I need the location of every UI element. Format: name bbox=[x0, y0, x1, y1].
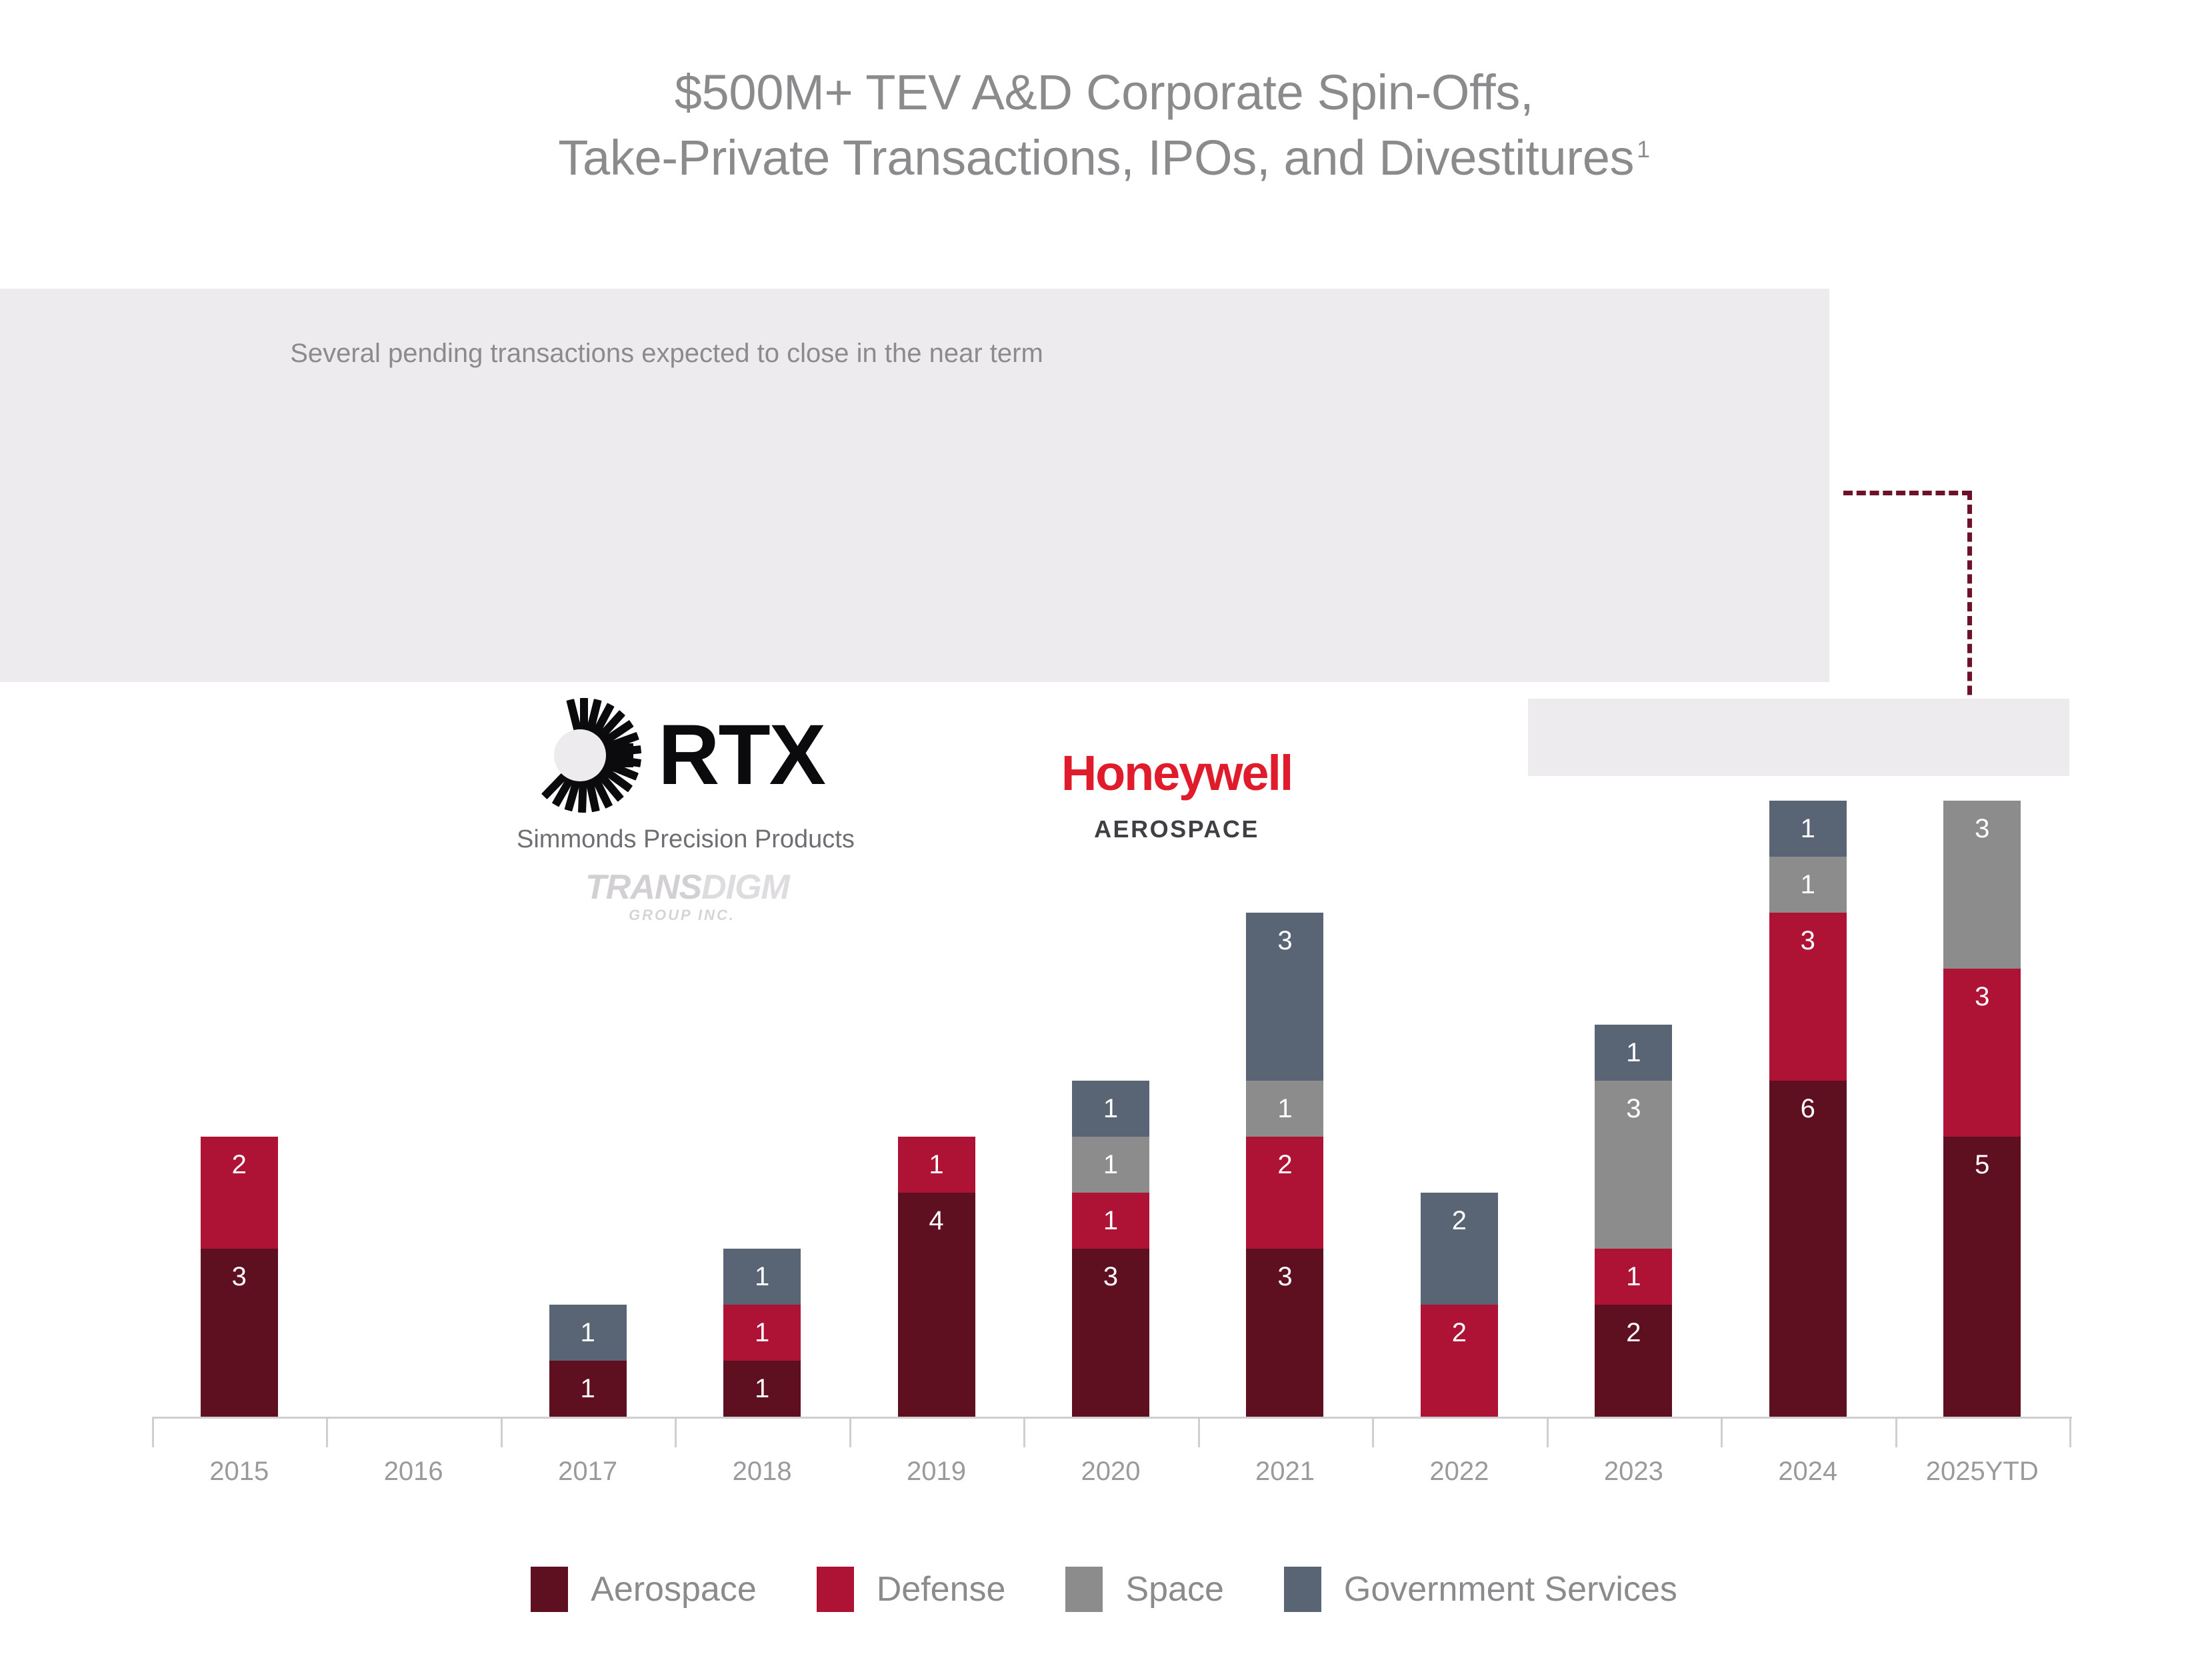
x-axis-tick-2016 bbox=[326, 1417, 500, 1447]
bar-segment-value: 1 bbox=[929, 1151, 943, 1178]
bar-segment-value: 4 bbox=[929, 1207, 943, 1234]
bar-column-2016[interactable] bbox=[326, 720, 500, 1417]
bar-column-2019[interactable]: 14 bbox=[849, 720, 1023, 1417]
bar-segment-value: 1 bbox=[1626, 1039, 1641, 1066]
bar-stack: 14 bbox=[898, 1137, 975, 1417]
bar-stack: 22 bbox=[1421, 1193, 1498, 1417]
bar-segment-value: 3 bbox=[1277, 927, 1292, 954]
bar-segment-value: 1 bbox=[1103, 1151, 1118, 1178]
legend-swatch-icon bbox=[531, 1567, 568, 1612]
x-axis-tick-2020 bbox=[1023, 1417, 1197, 1447]
bar-segment-defense[interactable]: 1 bbox=[898, 1137, 975, 1193]
bar-segment-aerospace[interactable]: 3 bbox=[1072, 1249, 1149, 1417]
legend-label: Space bbox=[1125, 1569, 1223, 1609]
x-axis-tick-2019 bbox=[849, 1417, 1023, 1447]
x-axis-ticks bbox=[152, 1417, 2069, 1447]
x-axis-label-2017: 2017 bbox=[501, 1457, 675, 1487]
bar-segment-government-services[interactable]: 3 bbox=[1246, 913, 1323, 1081]
bar-segment-aerospace[interactable]: 1 bbox=[723, 1361, 801, 1417]
bar-segment-value: 3 bbox=[232, 1263, 247, 1290]
bar-column-2024[interactable]: 1136 bbox=[1721, 720, 1895, 1417]
x-axis-tick-2021 bbox=[1198, 1417, 1372, 1447]
bar-segment-value: 3 bbox=[1626, 1095, 1641, 1122]
page-title-line-1: $500M+ TEV A&D Corporate Spin-Offs, bbox=[0, 60, 2208, 125]
bar-segment-defense[interactable]: 2 bbox=[1246, 1137, 1323, 1249]
bar-segment-government-services[interactable]: 2 bbox=[1421, 1193, 1498, 1305]
legend-item-government-services[interactable]: Government Services bbox=[1284, 1567, 1677, 1612]
bar-segment-aerospace[interactable]: 5 bbox=[1943, 1137, 2021, 1417]
bar-segment-defense[interactable]: 1 bbox=[1595, 1249, 1672, 1305]
bar-segment-government-services[interactable]: 1 bbox=[1595, 1025, 1672, 1081]
bar-column-2017[interactable]: 11 bbox=[501, 720, 675, 1417]
bar-segment-government-services[interactable]: 1 bbox=[723, 1249, 801, 1305]
legend-item-defense[interactable]: Defense bbox=[817, 1567, 1006, 1612]
callout-subtitle: Several pending transactions expected to… bbox=[0, 339, 1333, 369]
bar-segment-space[interactable]: 1 bbox=[1769, 857, 1847, 913]
x-axis-tick-2024 bbox=[1721, 1417, 1895, 1447]
bar-column-2020[interactable]: 1113 bbox=[1023, 720, 1197, 1417]
legend-item-space[interactable]: Space bbox=[1065, 1567, 1223, 1612]
bar-segment-value: 3 bbox=[1103, 1263, 1118, 1290]
bar-stack: 1312 bbox=[1595, 1025, 1672, 1417]
arrow-horizontal-segment bbox=[1843, 491, 1971, 495]
bar-segment-space[interactable]: 1 bbox=[1246, 1081, 1323, 1137]
plot-area: 231111114111331232213121136335 bbox=[152, 720, 2069, 1417]
x-axis-label-2021: 2021 bbox=[1198, 1457, 1372, 1487]
x-axis-tick-2023 bbox=[1547, 1417, 1721, 1447]
bar-segment-value: 2 bbox=[232, 1151, 247, 1178]
bar-segment-value: 1 bbox=[1103, 1207, 1118, 1234]
bar-segment-value: 2 bbox=[1626, 1319, 1641, 1346]
bar-segment-aerospace[interactable]: 6 bbox=[1769, 1081, 1847, 1417]
bar-segment-space[interactable]: 3 bbox=[1943, 801, 2021, 969]
legend-label: Defense bbox=[877, 1569, 1006, 1609]
x-axis-tick-2017 bbox=[501, 1417, 675, 1447]
bar-segment-value: 1 bbox=[755, 1375, 769, 1402]
x-axis-label-2019: 2019 bbox=[849, 1457, 1023, 1487]
bar-segment-government-services[interactable]: 1 bbox=[549, 1305, 627, 1361]
legend-label: Government Services bbox=[1344, 1569, 1677, 1609]
footnote-marker: 1 bbox=[1637, 136, 1649, 163]
bar-column-2021[interactable]: 3123 bbox=[1198, 720, 1372, 1417]
bar-segment-space[interactable]: 3 bbox=[1595, 1081, 1672, 1249]
bar-segment-value: 3 bbox=[1975, 815, 1989, 842]
bar-segment-defense[interactable]: 2 bbox=[201, 1137, 278, 1249]
bar-segment-government-services[interactable]: 1 bbox=[1769, 801, 1847, 857]
bar-segment-aerospace[interactable]: 3 bbox=[1246, 1249, 1323, 1417]
x-axis-label-2024: 2024 bbox=[1721, 1457, 1895, 1487]
bar-segment-defense[interactable]: 2 bbox=[1421, 1305, 1498, 1417]
bar-segment-value: 5 bbox=[1975, 1151, 1989, 1178]
bar-segment-aerospace[interactable]: 2 bbox=[1595, 1305, 1672, 1417]
bar-stack: 335 bbox=[1943, 801, 2021, 1417]
bar-stack: 3123 bbox=[1246, 913, 1323, 1417]
bar-stack: 1113 bbox=[1072, 1081, 1149, 1417]
bar-segment-value: 1 bbox=[1801, 815, 1815, 842]
bar-stack: 23 bbox=[201, 1137, 278, 1417]
bar-segment-aerospace[interactable]: 4 bbox=[898, 1193, 975, 1417]
x-axis-tick-2025YTD bbox=[1895, 1417, 2069, 1447]
bar-segment-value: 2 bbox=[1452, 1207, 1467, 1234]
x-axis-tick-2015 bbox=[152, 1417, 326, 1447]
bar-segment-aerospace[interactable]: 3 bbox=[201, 1249, 278, 1417]
bar-column-2023[interactable]: 1312 bbox=[1547, 720, 1721, 1417]
legend-label: Aerospace bbox=[591, 1569, 757, 1609]
bar-segment-value: 3 bbox=[1975, 983, 1989, 1010]
bar-segment-value: 1 bbox=[1277, 1095, 1292, 1122]
x-axis-labels: 2015201620172018201920202021202220232024… bbox=[152, 1457, 2069, 1487]
bar-segment-defense[interactable]: 1 bbox=[1072, 1193, 1149, 1249]
bar-column-2015[interactable]: 23 bbox=[152, 720, 326, 1417]
bar-segment-value: 1 bbox=[755, 1263, 769, 1290]
x-axis-label-2022: 2022 bbox=[1372, 1457, 1546, 1487]
page-title: $500M+ TEV A&D Corporate Spin-Offs, Take… bbox=[0, 60, 2208, 190]
bar-segment-value: 2 bbox=[1452, 1319, 1467, 1346]
x-axis-label-2025YTD: 2025YTD bbox=[1895, 1457, 2069, 1487]
bar-column-2018[interactable]: 111 bbox=[675, 720, 849, 1417]
x-axis-tick-2022 bbox=[1372, 1417, 1546, 1447]
bar-segment-value: 1 bbox=[581, 1375, 595, 1402]
bar-segment-defense[interactable]: 3 bbox=[1943, 969, 2021, 1137]
legend-swatch-icon bbox=[817, 1567, 854, 1612]
bar-segment-defense[interactable]: 3 bbox=[1769, 913, 1847, 1081]
chart-legend: AerospaceDefenseSpaceGovernment Services bbox=[0, 1567, 2208, 1612]
page-title-line-2-text: Take-Private Transactions, IPOs, and Div… bbox=[558, 130, 1634, 185]
bar-segment-value: 3 bbox=[1277, 1263, 1292, 1290]
bar-column-2025YTD[interactable]: 335 bbox=[1895, 720, 2069, 1417]
pending-transactions-callout: Several pending transactions expected to… bbox=[0, 289, 1829, 682]
page-title-line-2: Take-Private Transactions, IPOs, and Div… bbox=[0, 125, 2208, 191]
bar-segment-value: 1 bbox=[1801, 871, 1815, 898]
bar-segment-value: 1 bbox=[755, 1319, 769, 1346]
bar-segment-aerospace[interactable]: 1 bbox=[549, 1361, 627, 1417]
legend-swatch-icon bbox=[1284, 1567, 1321, 1612]
x-axis-label-2018: 2018 bbox=[675, 1457, 849, 1487]
x-axis-label-2015: 2015 bbox=[152, 1457, 326, 1487]
bar-segment-value: 1 bbox=[581, 1319, 595, 1346]
x-axis-label-2020: 2020 bbox=[1023, 1457, 1197, 1487]
bar-segment-defense[interactable]: 1 bbox=[723, 1305, 801, 1361]
bar-segment-value: 6 bbox=[1801, 1095, 1815, 1122]
x-axis-label-2023: 2023 bbox=[1547, 1457, 1721, 1487]
bar-stack: 111 bbox=[723, 1249, 801, 1417]
x-axis-tick-2018 bbox=[675, 1417, 849, 1447]
bar-segment-space[interactable]: 1 bbox=[1072, 1137, 1149, 1193]
bar-stack: 1136 bbox=[1769, 801, 1847, 1417]
legend-swatch-icon bbox=[1065, 1567, 1103, 1612]
bar-segment-government-services[interactable]: 1 bbox=[1072, 1081, 1149, 1137]
x-axis-label-2016: 2016 bbox=[326, 1457, 500, 1487]
bar-segment-value: 1 bbox=[1626, 1263, 1641, 1290]
legend-item-aerospace[interactable]: Aerospace bbox=[531, 1567, 757, 1612]
bar-segment-value: 2 bbox=[1277, 1151, 1292, 1178]
bar-segment-value: 1 bbox=[1103, 1095, 1118, 1122]
bar-stack: 11 bbox=[549, 1305, 627, 1417]
bar-segment-value: 3 bbox=[1801, 927, 1815, 954]
bar-column-2022[interactable]: 22 bbox=[1372, 720, 1546, 1417]
stacked-bar-chart: 231111114111331232213121136335 bbox=[0, 720, 2208, 1427]
